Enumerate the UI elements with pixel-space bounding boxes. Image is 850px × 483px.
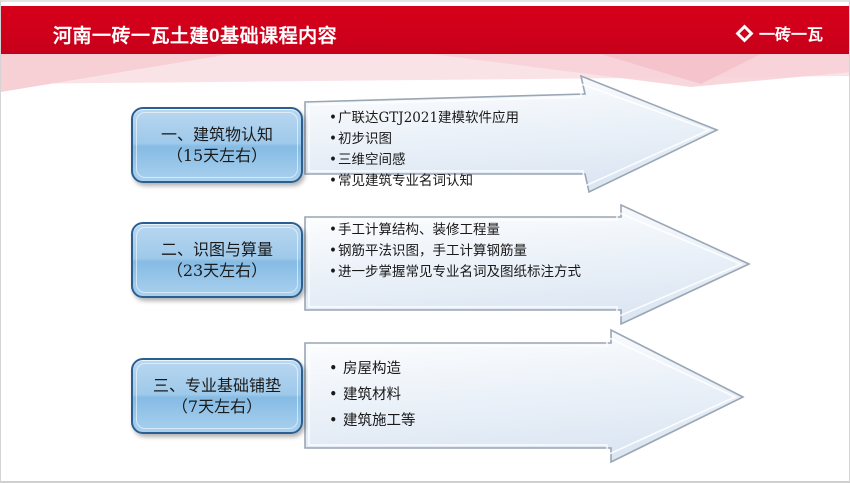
- brand-logo: 一砖一瓦: [735, 21, 823, 45]
- slide-canvas: 河南一砖一瓦土建0基础课程内容 一砖一瓦: [0, 0, 850, 483]
- list-item: • 钢筋平法识图，手工计算钢筋量: [329, 241, 581, 262]
- brand-logo-text: 一砖一瓦: [759, 21, 823, 45]
- bullet-icon: •: [329, 408, 343, 434]
- bullet-icon: •: [329, 262, 338, 283]
- stage-duration: （7天左右）: [172, 396, 262, 417]
- header-bar: 河南一砖一瓦土建0基础课程内容 一砖一瓦: [1, 6, 850, 54]
- bullet-icon: •: [329, 129, 338, 150]
- stage-bullets-3: • 房屋构造 • 建筑材料 • 建筑施工等: [329, 356, 416, 434]
- bullet-icon: •: [329, 171, 338, 192]
- bullet-icon: •: [329, 382, 343, 408]
- list-item: • 三维空间感: [329, 150, 519, 171]
- bullet-text: 房屋构造: [343, 356, 401, 382]
- page-title: 河南一砖一瓦土建0基础课程内容: [53, 21, 337, 48]
- stage-duration: （23天左右）: [167, 260, 267, 281]
- bullet-text: 进一步掌握常见专业名词及图纸标注方式: [338, 262, 581, 283]
- list-item: • 手工计算结构、装修工程量: [329, 220, 581, 241]
- stage-bullets-2: • 手工计算结构、装修工程量 • 钢筋平法识图，手工计算钢筋量 • 进一步掌握常…: [329, 220, 581, 283]
- bullet-icon: •: [329, 150, 338, 171]
- bullet-text: 手工计算结构、装修工程量: [338, 220, 500, 241]
- list-item: • 进一步掌握常见专业名词及图纸标注方式: [329, 262, 581, 283]
- stage-box-1[interactable]: 一、建筑物认知 （15天左右）: [131, 107, 303, 183]
- stage-duration: （15天左右）: [167, 145, 267, 166]
- stage-row-1: 一、建筑物认知 （15天左右） • 广联达GTJ2021建模软件应用 • 初步识…: [1, 64, 850, 204]
- stage-row-2: 二、识图与算量 （23天左右） • 手工计算结构、装修工程量 • 钢筋平法识图，…: [1, 198, 850, 332]
- list-item: • 广联达GTJ2021建模软件应用: [329, 108, 519, 129]
- list-item: • 常见建筑专业名词认知: [329, 171, 519, 192]
- bullet-text: 钢筋平法识图，手工计算钢筋量: [338, 241, 527, 262]
- bullet-text: 建筑材料: [343, 382, 401, 408]
- bullet-icon: •: [329, 241, 338, 262]
- bullet-text: 初步识图: [338, 129, 392, 150]
- stage-bullets-1: • 广联达GTJ2021建模软件应用 • 初步识图 • 三维空间感 • 常见建筑…: [329, 108, 519, 192]
- bullet-icon: •: [329, 356, 343, 382]
- bullet-text: 广联达GTJ2021建模软件应用: [338, 108, 519, 129]
- bullet-icon: •: [329, 108, 338, 129]
- bullet-icon: •: [329, 220, 338, 241]
- stage-box-2[interactable]: 二、识图与算量 （23天左右）: [131, 222, 303, 298]
- diamond-logo-icon: [735, 24, 754, 43]
- list-item: • 建筑施工等: [329, 408, 416, 434]
- bullet-text: 常见建筑专业名词认知: [338, 171, 473, 192]
- list-item: • 房屋构造: [329, 356, 416, 382]
- list-item: • 建筑材料: [329, 382, 416, 408]
- stage-row-3: 三、专业基础铺垫 （7天左右） • 房屋构造 • 建筑材料 • 建筑施工等: [1, 320, 850, 470]
- list-item: • 初步识图: [329, 129, 519, 150]
- stage-title: 三、专业基础铺垫: [153, 375, 281, 396]
- bullet-text: 三维空间感: [338, 150, 406, 171]
- stage-title: 二、识图与算量: [161, 239, 273, 260]
- stage-box-3[interactable]: 三、专业基础铺垫 （7天左右）: [131, 358, 303, 434]
- stage-title: 一、建筑物认知: [161, 124, 273, 145]
- bullet-text: 建筑施工等: [343, 408, 416, 434]
